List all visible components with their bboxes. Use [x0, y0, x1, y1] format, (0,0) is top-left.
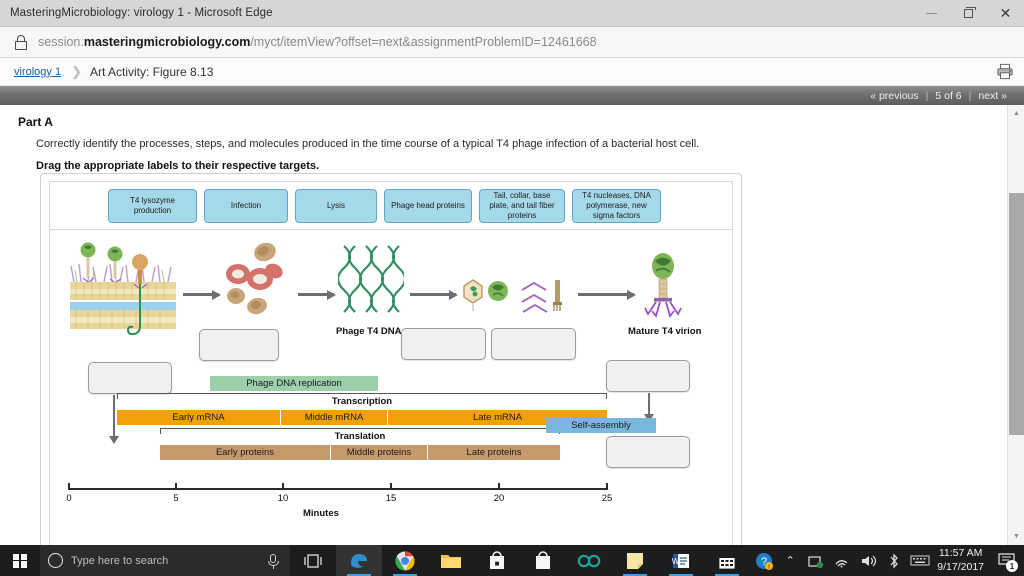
diagram-canvas: Phage T4 DNA — [49, 230, 733, 545]
svg-text:W: W — [672, 557, 680, 566]
clock-time: 11:57 AM — [937, 547, 984, 560]
transcription-label: Transcription — [117, 396, 607, 407]
bar-late-proteins: Late proteins — [427, 445, 560, 460]
process-arrow-1 — [183, 293, 219, 296]
axis-tick-label-20: 20 — [494, 493, 505, 504]
mature-t4-virion-label: Mature T4 virion — [628, 326, 701, 337]
maximize-icon — [964, 9, 973, 18]
bluetooth-icon[interactable] — [881, 545, 907, 576]
axis-title: Minutes — [303, 508, 339, 519]
chevron-up-icon[interactable]: ⌃ — [777, 545, 803, 576]
url-text[interactable]: session.masteringmicrobiology.com/myct/i… — [38, 35, 597, 49]
axis-tick-label-0: 0 — [66, 493, 71, 504]
axis-tick-label-25: 25 — [602, 493, 613, 504]
process-arrow-4 — [578, 293, 634, 296]
problem-nav-strip: « previous | 5 of 6 | next » — [0, 86, 1024, 105]
axis-tick-label-15: 15 — [386, 493, 397, 504]
drag-instruction: Drag the appropriate labels to their res… — [36, 160, 1007, 172]
word-icon[interactable]: W — [658, 545, 704, 576]
task-view-icon[interactable] — [290, 545, 336, 576]
bar-middle-proteins: Middle proteins — [330, 445, 427, 460]
drop-target-1[interactable] — [199, 329, 279, 361]
bar-middle-mrna: Middle mRNA — [280, 410, 387, 425]
infected-bacterial-cell-illustration — [68, 240, 178, 345]
breadcrumb-current: Art Activity: Figure 8.13 — [90, 65, 213, 79]
window-title: MasteringMicrobiology: virology 1 - Micr… — [0, 7, 273, 19]
drop-target-2[interactable] — [401, 328, 486, 360]
process-arrow-3 — [410, 293, 456, 296]
window-titlebar: MasteringMicrobiology: virology 1 - Micr… — [0, 0, 1024, 27]
store-icon-2[interactable] — [520, 545, 566, 576]
label-bank: T4 lysozyme production Infection Lysis P… — [49, 181, 733, 230]
axis-tick-10 — [282, 483, 284, 490]
breadcrumb-course-link[interactable]: virology 1 — [8, 64, 67, 80]
axis-tick-5 — [175, 483, 177, 490]
maximize-button[interactable] — [950, 0, 987, 27]
draggable-label-lysis[interactable]: Lysis — [295, 189, 377, 223]
axis-tick-label-5: 5 — [173, 493, 178, 504]
office-icon[interactable] — [566, 545, 612, 576]
printer-icon[interactable] — [996, 63, 1014, 80]
wifi-icon[interactable] — [829, 545, 855, 576]
question-prompt: Correctly identify the processes, steps,… — [36, 138, 1007, 150]
bar-self-assembly: Self-assembly — [546, 418, 656, 433]
bar-phage-dna-replication: Phage DNA replication — [210, 376, 378, 391]
process-arrow-2 — [298, 293, 334, 296]
scroll-down-arrow-icon[interactable]: ▼ — [1008, 528, 1024, 545]
draggable-label-infection[interactable]: Infection — [204, 189, 288, 223]
bar-early-mrna: Early mRNA — [117, 410, 280, 425]
onedrive-icon[interactable] — [803, 545, 829, 576]
degraded-host-dna-illustration — [222, 238, 292, 333]
time-axis — [68, 488, 608, 490]
phage-head-proteins-illustration — [462, 278, 510, 314]
sticky-notes-icon[interactable] — [612, 545, 658, 576]
store-icon[interactable]: ■ — [474, 545, 520, 576]
problem-position: 5 of 6 — [928, 90, 968, 102]
draggable-label-t4-lysozyme-production[interactable]: T4 lysozyme production — [108, 189, 197, 223]
lock-icon — [12, 33, 30, 51]
translation-label: Translation — [160, 431, 560, 442]
taskbar: Type here to search — [0, 545, 1024, 576]
search-placeholder: Type here to search — [71, 555, 258, 567]
draggable-label-phage-head-proteins[interactable]: Phage head proteins — [384, 189, 472, 223]
draggable-label-tail-collar-base-plate[interactable]: Tail, collar, base plate, and tail fiber… — [479, 189, 565, 223]
url-host: masteringmicrobiology.com — [84, 35, 250, 49]
file-explorer-icon[interactable] — [428, 545, 474, 576]
url-host-prefix: session. — [38, 35, 84, 49]
notification-badge: 1 — [1006, 560, 1018, 572]
windows-logo-icon — [13, 554, 27, 568]
self-assembly-arrow — [648, 393, 650, 415]
draggable-label-t4-nucleases-dna-polymerase[interactable]: T4 nucleases, DNA polymerase, new sigma … — [572, 189, 661, 223]
axis-tick-label-10: 10 — [278, 493, 289, 504]
phage-t4-dna-illustration — [338, 244, 404, 322]
edge-icon[interactable] — [336, 545, 382, 576]
clock[interactable]: 11:57 AM 9/17/2017 — [933, 547, 992, 573]
volume-icon[interactable] — [855, 545, 881, 576]
drop-target-5[interactable] — [606, 360, 690, 392]
drop-target-4[interactable] — [88, 362, 172, 394]
search-input[interactable]: Type here to search — [40, 545, 290, 576]
action-center-icon[interactable]: 1 — [992, 545, 1020, 576]
scroll-up-arrow-icon[interactable]: ▲ — [1008, 105, 1024, 122]
next-button[interactable]: next » — [971, 90, 1014, 102]
minimize-button[interactable] — [913, 0, 950, 27]
previous-button[interactable]: « previous — [863, 90, 925, 102]
clock-date: 9/17/2017 — [937, 561, 984, 574]
axis-tick-25 — [606, 483, 608, 490]
vertical-scrollbar[interactable]: ▲ ▼ — [1007, 105, 1024, 545]
scrollbar-thumb[interactable] — [1009, 193, 1024, 435]
close-button[interactable]: ✕ — [987, 0, 1024, 27]
page-content: Part A Correctly identify the processes,… — [0, 105, 1007, 545]
cortana-icon — [48, 553, 63, 568]
axis-tick-20 — [498, 483, 500, 490]
phage-t4-dna-label: Phage T4 DNA — [336, 326, 401, 337]
help-icon[interactable]: ? ! — [751, 545, 777, 576]
tail-collar-baseplate-fiber-proteins-illustration — [520, 276, 568, 316]
microphone-icon[interactable] — [266, 553, 280, 569]
system-tray: ? ! ⌃ — [751, 545, 1024, 576]
chrome-icon[interactable] — [382, 545, 428, 576]
axis-tick-0 — [68, 483, 70, 490]
window-controls: ✕ — [913, 0, 1024, 27]
page-title: Part A — [18, 115, 1007, 129]
address-bar[interactable]: session.masteringmicrobiology.com/myct/i… — [0, 27, 1024, 58]
axis-tick-15 — [390, 483, 392, 490]
infection-arrow — [113, 395, 115, 437]
drop-target-6[interactable] — [606, 436, 690, 468]
svg-text:■: ■ — [495, 559, 500, 568]
calendar-icon[interactable] — [704, 545, 750, 576]
keyboard-icon[interactable] — [907, 545, 933, 576]
chevron-right-icon: ❯ — [71, 64, 82, 80]
start-button[interactable] — [0, 545, 40, 576]
mature-t4-virion-illustration — [638, 252, 688, 322]
minimize-icon — [926, 13, 937, 14]
art-activity-panel: T4 lysozyme production Infection Lysis P… — [40, 173, 742, 545]
bar-early-proteins: Early proteins — [160, 445, 330, 460]
drop-target-3[interactable] — [491, 328, 576, 360]
url-path: /myct/itemView?offset=next&assignmentPro… — [250, 35, 596, 49]
breadcrumb: virology 1 ❯ Art Activity: Figure 8.13 — [0, 58, 1024, 86]
